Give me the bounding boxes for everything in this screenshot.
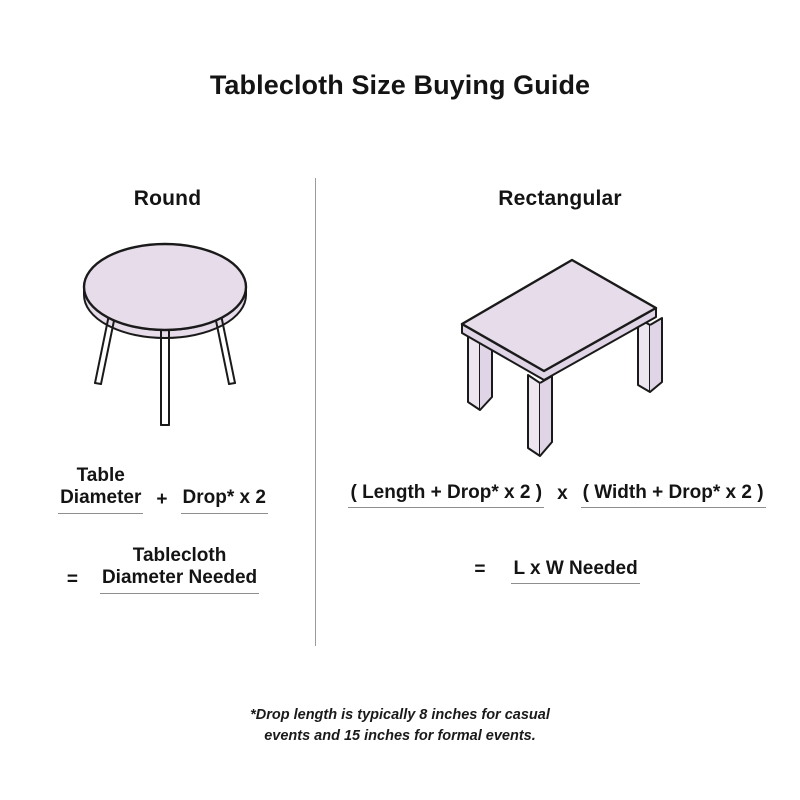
round-operator-plus: + [143,489,180,514]
footnote-line-2: events and 15 inches for formal events. [150,726,650,747]
footnote-line-1: *Drop length is typically 8 inches for c… [150,705,650,726]
round-term-drop: Drop* x 2 [181,487,268,513]
section-header-rectangular: Rectangular [335,187,785,211]
round-formula-top: Table Diameter + Drop* x 2 [18,465,308,514]
round-term-table-diameter: Table Diameter [58,465,143,514]
rect-equals-sign: = [474,559,485,584]
section-header-round: Round [35,187,300,211]
infographic-canvas: Tablecloth Size Buying Guide Round Table… [0,0,800,800]
round-equals-sign: = [67,569,78,594]
page-title: Tablecloth Size Buying Guide [0,70,800,101]
round-result-line1: Tablecloth [102,545,257,567]
round-result-line2: Diameter Needed [102,567,257,589]
round-result-text: Tablecloth Diameter Needed [100,545,259,594]
footnote: *Drop length is typically 8 inches for c… [150,705,650,747]
round-formula-result: = Tablecloth Diameter Needed [18,545,308,594]
round-term-line1: Table [60,465,141,487]
rectangular-table-illustration [440,240,690,460]
rect-operator-times: x [544,483,581,508]
rect-formula-top: ( Length + Drop* x 2 ) x ( Width + Drop*… [322,482,792,508]
round-term-line2: Diameter [60,487,141,509]
rect-term-width: ( Width + Drop* x 2 ) [581,482,766,508]
column-divider [315,178,316,646]
rect-formula-result: = L x W Needed [322,558,792,584]
rect-result-text: L x W Needed [511,558,639,584]
rect-term-length: ( Length + Drop* x 2 ) [348,482,544,508]
round-table-illustration [60,235,275,435]
